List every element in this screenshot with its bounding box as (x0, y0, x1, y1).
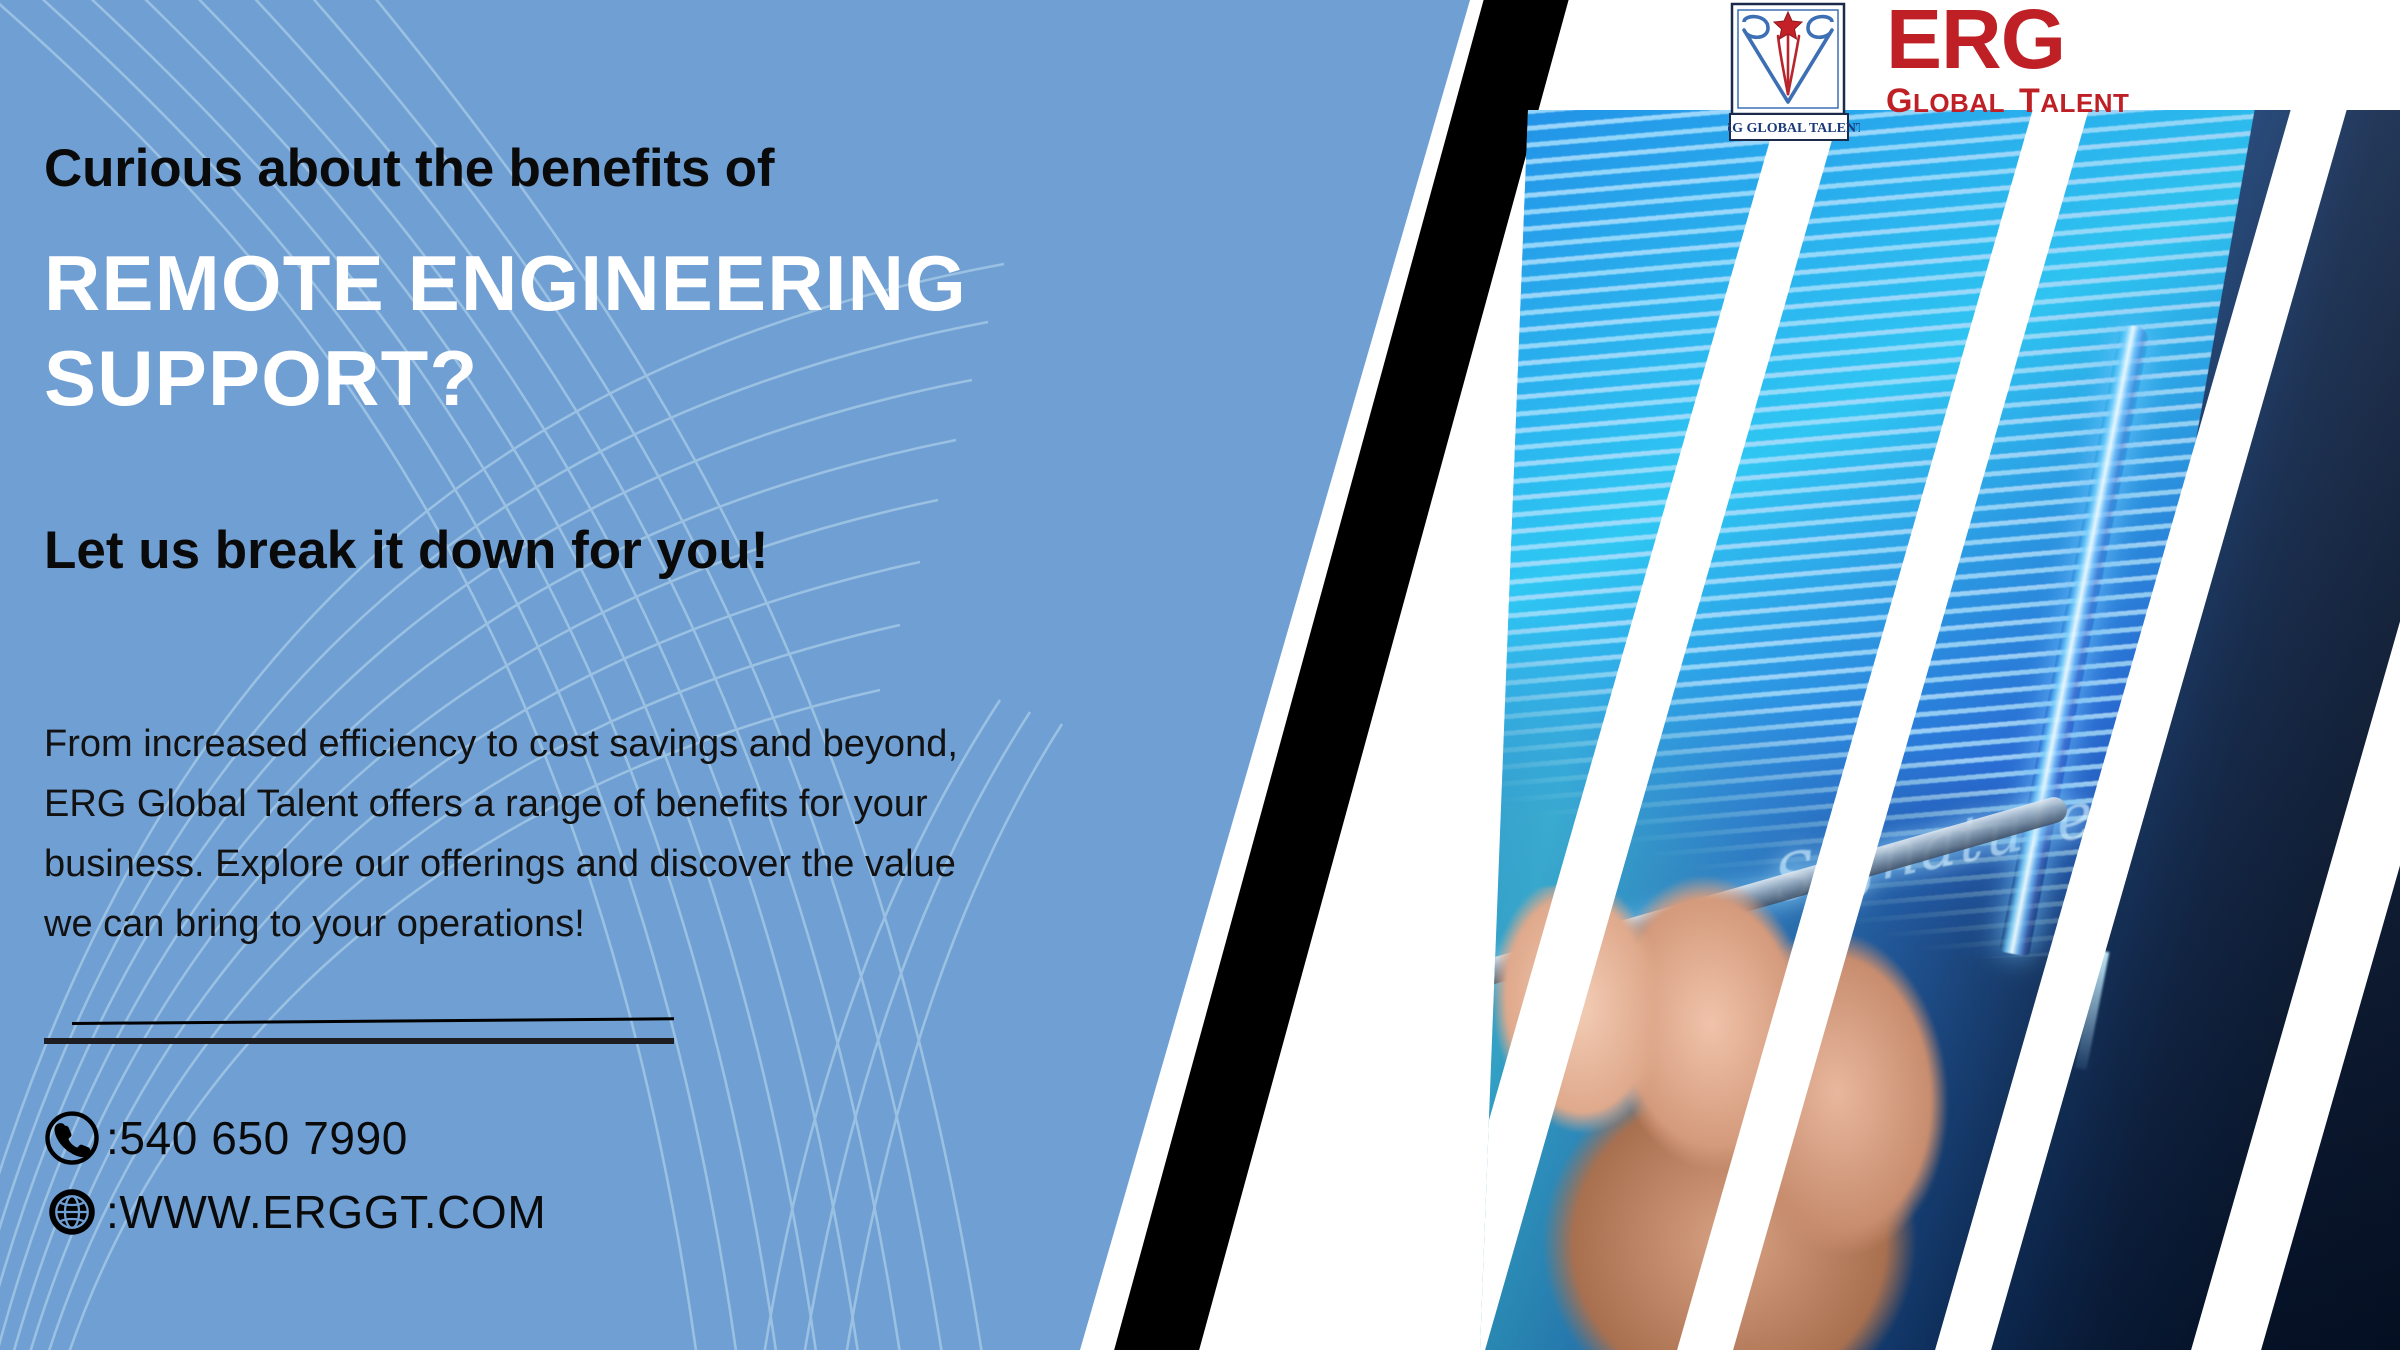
emblem-caption: ERG GLOBAL TALENT (1728, 121, 1860, 136)
erg-tagline: GLOBALTALENT (1886, 84, 2129, 118)
erg-wordmark: ERG (1886, 2, 2129, 78)
marketing-banner: Signature Curious about the benefits of … (0, 0, 2400, 1350)
subheadline-text: Let us break it down for you! (44, 520, 768, 581)
erg-logo[interactable]: ERG GLOBAL TALENT ERG GLOBALTALENT (1728, 0, 2168, 150)
tagline-g: G (1886, 82, 1913, 120)
erg-wordmark-group: ERG GLOBALTALENT (1886, 2, 2129, 118)
page-title: REMOTE ENGINEERING SUPPORT? (44, 236, 1104, 426)
globe-icon (44, 1184, 100, 1240)
text-content-block: Curious about the benefits of REMOTE ENG… (44, 0, 1044, 1350)
divider-line-bottom (44, 1038, 674, 1044)
phone-number: :540 650 7990 (106, 1111, 408, 1165)
contact-row-website[interactable]: :WWW.ERGGT.COM (44, 1184, 546, 1240)
website-url: :WWW.ERGGT.COM (106, 1185, 546, 1239)
tagline-t: T (2019, 82, 2040, 120)
erg-shield-emblem: ERG GLOBAL TALENT (1728, 2, 1860, 142)
eyebrow-text: Curious about the benefits of (44, 138, 774, 199)
photo-montage: Signature (1480, 110, 2400, 1350)
contact-row-phone[interactable]: :540 650 7990 (44, 1110, 546, 1166)
phone-icon (44, 1110, 100, 1166)
contact-info: :540 650 7990 :WWW.ERGGT.COM (44, 1110, 546, 1258)
tagline-lobal: LOBAL (1913, 88, 2005, 118)
tagline-alent: ALENT (2040, 88, 2129, 118)
body-paragraph: From increased efficiency to cost saving… (44, 714, 974, 954)
divider-line-top (72, 1017, 674, 1025)
divider (44, 1022, 674, 1046)
